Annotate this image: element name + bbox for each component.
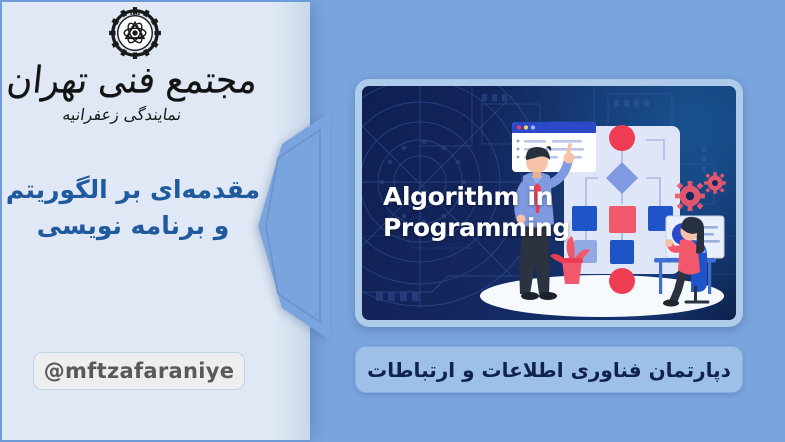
card-headline-line-1: Algorithm in — [383, 182, 570, 213]
arrow-ribbon-decoration — [258, 112, 330, 340]
svg-text:▪▪▪▪: ▪▪▪▪ — [130, 11, 141, 16]
course-title: مقدمه‌ای بر الگوریتم و برنامه نویسی — [2, 172, 264, 245]
card-headline: Algorithm in Programming — [383, 182, 570, 243]
department-label: دپارتمان فناوری اطلاعات و ارتباطات — [367, 358, 731, 382]
right-panel: Algorithm in Programming — [310, 0, 785, 442]
course-title-line-1: مقدمه‌ای بر الگوریتم — [2, 172, 264, 208]
social-handle-badge[interactable]: @mftzafaraniye — [33, 352, 245, 390]
slide-canvas: Algorithm in Programming — [0, 0, 785, 442]
course-media-card: Algorithm in Programming — [355, 79, 743, 327]
media-card-inner: Algorithm in Programming — [362, 86, 736, 320]
gear-atom-emblem: ▪▪▪▪ ▪▪▪▪▪▪ — [108, 6, 162, 60]
branch-name: نمایندگی زعفرانیه — [1, 105, 270, 124]
department-bar: دپارتمان فناوری اطلاعات و ارتباطات — [355, 346, 743, 393]
course-title-line-2: و برنامه نویسی — [2, 208, 264, 244]
institute-name: مجتمع فنی تهران — [0, 61, 270, 103]
card-headline-line-2: Programming — [383, 213, 570, 244]
svg-text:▪▪▪▪▪▪: ▪▪▪▪▪▪ — [128, 53, 141, 57]
brand-logo-block: ▪▪▪▪ ▪▪▪▪▪▪ مجتمع فنی تهران نمایندگی زعف… — [2, 6, 268, 124]
social-handle-text: @mftzafaraniye — [44, 359, 235, 383]
